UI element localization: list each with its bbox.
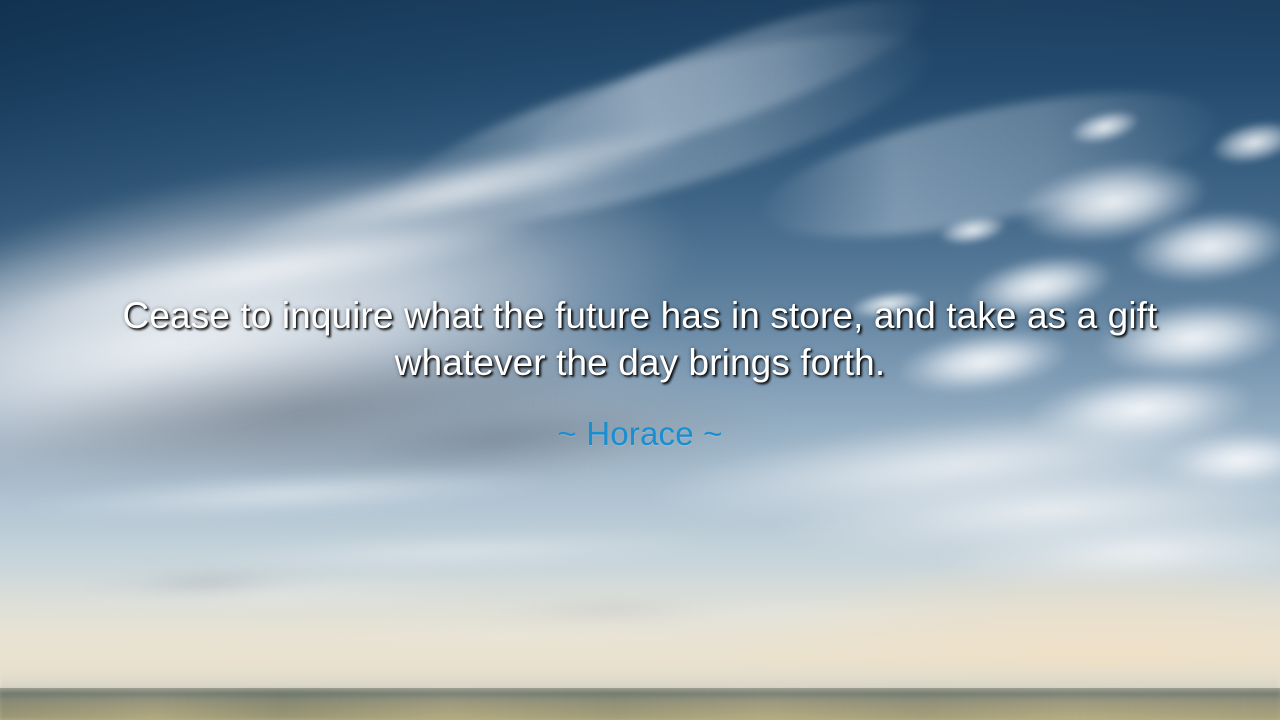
- quote-text: Cease to inquire what the future has in …: [80, 292, 1200, 386]
- land-texture: [0, 690, 1280, 720]
- quote-wallpaper: Cease to inquire what the future has in …: [0, 0, 1280, 720]
- quote-block: Cease to inquire what the future has in …: [0, 292, 1280, 454]
- quote-author: ~ Horace ~: [80, 414, 1200, 454]
